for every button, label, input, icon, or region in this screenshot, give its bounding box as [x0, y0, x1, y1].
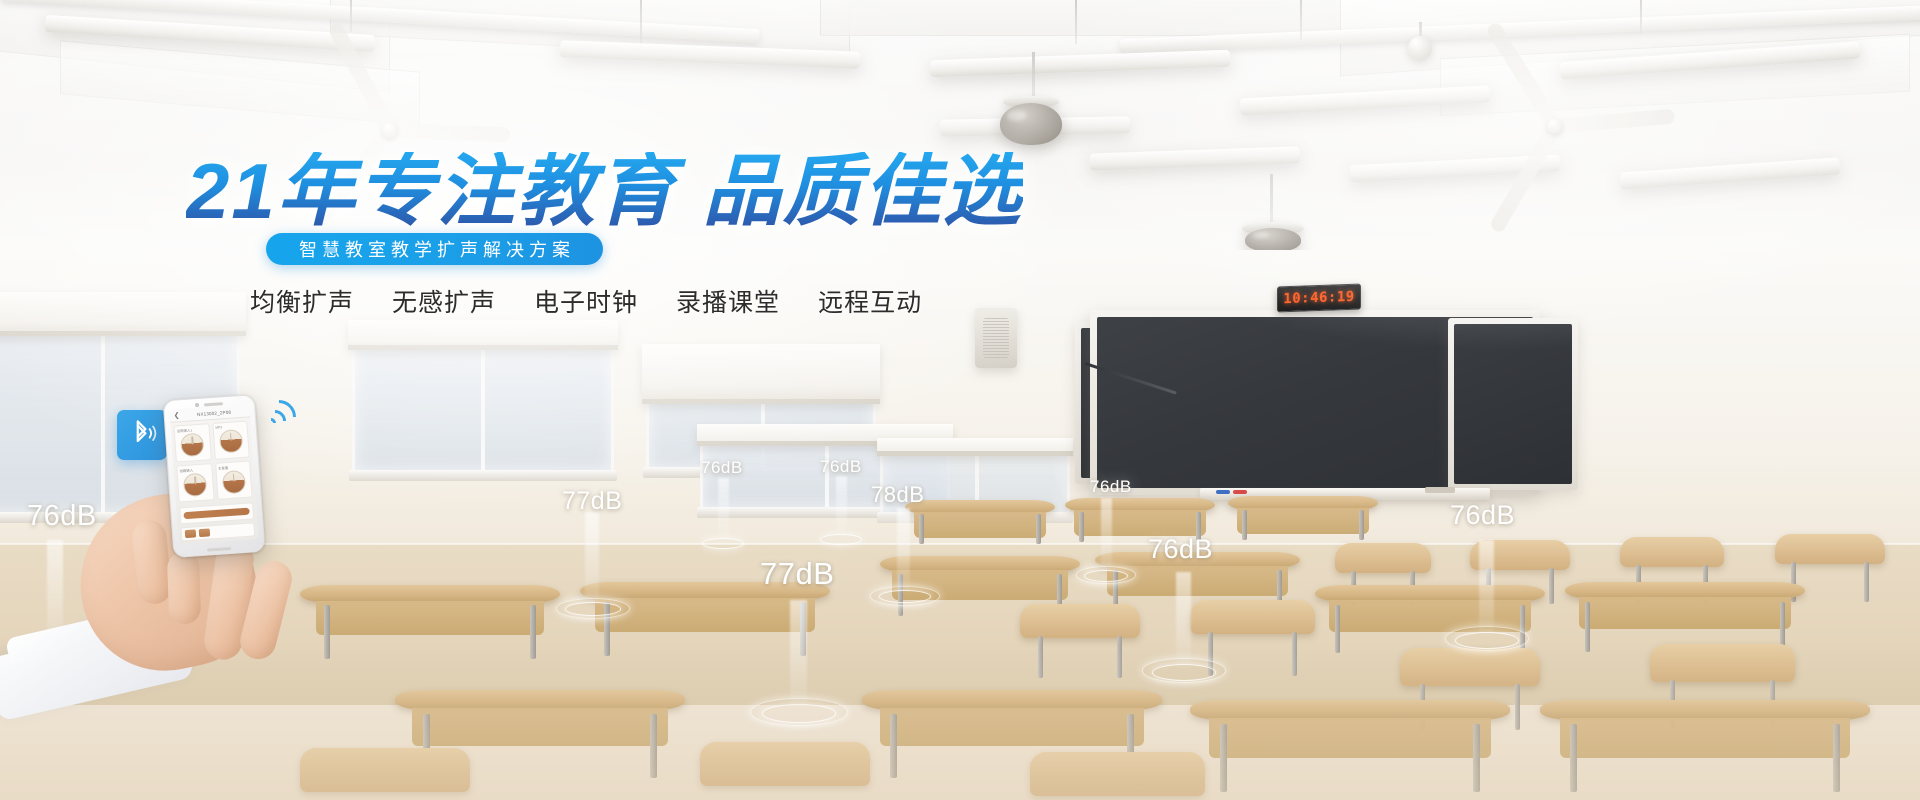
desk: [300, 585, 560, 659]
preset-chip[interactable]: [185, 529, 197, 538]
window-blind: [0, 292, 246, 336]
wall-speaker: [975, 308, 1017, 368]
db-label: 76dB: [1450, 500, 1515, 531]
eraser: [1425, 487, 1455, 493]
light-rod: [350, 0, 352, 32]
control-cell[interactable]: MP3: [212, 421, 250, 460]
ceiling-fan: [300, 112, 480, 148]
feature-item: 均衡扩声: [250, 283, 354, 319]
ceiling-speaker: [1245, 228, 1301, 252]
earpiece-speaker: [204, 402, 223, 406]
desk: [1190, 700, 1510, 792]
sound-ripple: [556, 598, 630, 619]
db-label: 77dB: [562, 487, 622, 516]
app-title: NX13002_2P08: [182, 408, 245, 417]
control-cell[interactable]: 线路输入: [176, 463, 214, 502]
sound-ripple: [1076, 566, 1136, 584]
db-label: 76dB: [820, 457, 862, 477]
subtitle-pill-label: 智慧教室教学扩声解决方案: [294, 236, 575, 262]
clock-time: 10:46:19: [1283, 289, 1354, 307]
sensor-dome: [1408, 36, 1432, 60]
control-cell[interactable]: 话筒输入1: [173, 423, 211, 462]
sound-ripple: [702, 538, 744, 549]
db-label: 76dB: [27, 500, 97, 533]
chair: [1020, 604, 1140, 678]
sound-ripple: [820, 534, 862, 545]
preset-chip[interactable]: [199, 528, 211, 537]
ceiling-lamp: [1090, 146, 1300, 170]
sound-ripple: [750, 698, 848, 726]
sound-ripple: [1142, 658, 1226, 683]
desk: [905, 500, 1055, 544]
rotary-knob[interactable]: [221, 470, 246, 495]
chair: [700, 742, 870, 800]
ceiling-fan: [1460, 108, 1650, 144]
wifi-signal-icon: [264, 388, 310, 430]
blackboard-right-wing: [1448, 318, 1578, 490]
light-rod: [1300, 0, 1302, 40]
smartphone[interactable]: ❮ NX13002_2P08 话筒输入1 MP3 线路输入 主音量: [163, 394, 266, 558]
chevron-left-icon[interactable]: ❮: [173, 412, 179, 419]
marker-red: [1233, 490, 1247, 494]
chair: [1030, 752, 1205, 800]
sound-ripple: [12, 646, 98, 670]
phone-screen[interactable]: ❮ NX13002_2P08 话筒输入1 MP3 线路输入 主音量: [169, 404, 258, 544]
speaker-rod: [1270, 174, 1273, 226]
digital-clock: 10:46:19: [1277, 284, 1361, 313]
front-camera-icon: [195, 403, 199, 407]
control-cell[interactable]: 主音量: [215, 460, 253, 499]
light-rod: [1075, 0, 1077, 44]
feature-item: 远程互动: [818, 283, 922, 319]
page-title: 21年专注教育品质佳选: [186, 152, 1023, 230]
home-indicator: [207, 547, 231, 552]
desk: [1565, 582, 1805, 652]
headline-part2: 品质佳选: [703, 147, 1023, 235]
classroom-banner: 10:46:19: [0, 0, 1920, 800]
slider-track[interactable]: [183, 508, 249, 520]
window-blind: [642, 344, 880, 404]
db-label: 76dB: [1090, 477, 1132, 497]
ceiling-speaker: [1000, 103, 1062, 145]
rotary-knob[interactable]: [183, 473, 208, 498]
db-label: 78dB: [871, 482, 924, 508]
db-label: 76dB: [701, 458, 743, 478]
ceiling-panel: [820, 0, 1380, 36]
chair: [300, 748, 470, 800]
headline-part1: 21年专注教育: [186, 147, 677, 235]
feature-item: 电子时钟: [534, 283, 638, 319]
desk: [1228, 496, 1378, 540]
bluetooth-icon: [125, 418, 159, 452]
control-grid[interactable]: 话筒输入1 MP3 线路输入 主音量: [170, 417, 256, 505]
window-blind: [877, 438, 1073, 456]
sound-ripple: [1445, 626, 1529, 651]
window-blind: [348, 320, 618, 350]
subtitle-pill: 智慧教室教学扩声解决方案: [266, 233, 603, 265]
db-label: 76dB: [1148, 534, 1213, 565]
sound-ripple: [870, 586, 940, 606]
feature-item: 录播课堂: [676, 283, 780, 319]
db-label: 77dB: [760, 556, 834, 592]
rotary-knob[interactable]: [219, 429, 244, 454]
rotary-knob[interactable]: [180, 433, 205, 458]
light-rod: [1640, 0, 1642, 34]
ceiling-lamp: [930, 50, 1230, 77]
bluetooth-badge: [117, 410, 167, 460]
feature-item: 无感扩声: [392, 283, 496, 319]
desk: [580, 582, 830, 656]
feature-list: 均衡扩声 无感扩声 电子时钟 录播课堂 远程互动: [250, 283, 922, 319]
ceiling-lamp: [1620, 157, 1841, 189]
master-slider[interactable]: [179, 502, 254, 524]
preset-row[interactable]: [181, 522, 256, 541]
desk: [1540, 700, 1870, 792]
marker-blue: [1216, 490, 1230, 494]
